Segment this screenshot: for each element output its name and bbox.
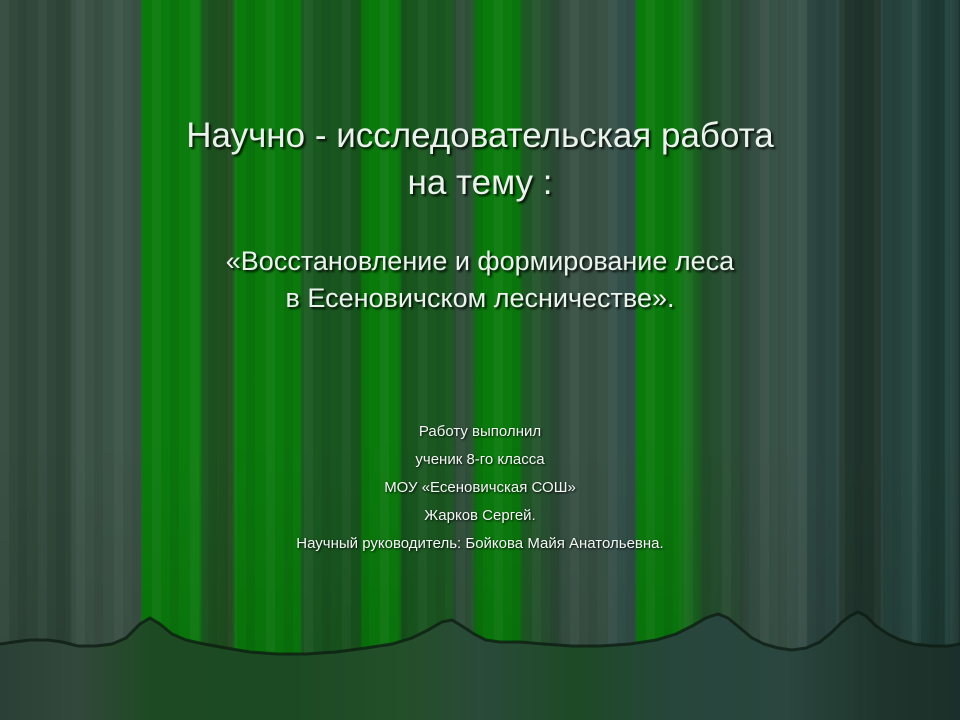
title-line-1: Научно - исследовательская работа xyxy=(0,112,960,159)
subtitle-line-1: «Восстановление и формирование леса xyxy=(0,243,960,280)
author-line-school: МОУ «Есеновичская СОШ» xyxy=(0,474,960,502)
author-line-role: Работу выполнил xyxy=(0,418,960,446)
author-block: Работу выполнил ученик 8-го класса МОУ «… xyxy=(0,418,960,558)
author-line-name: Жарков Сергей. xyxy=(0,502,960,530)
subtitle-line-2: в Есеновичском лесничестве». xyxy=(0,280,960,317)
author-line-supervisor: Научный руководитель: Бойкова Майя Анато… xyxy=(0,530,960,558)
author-line-class: ученик 8-го класса xyxy=(0,446,960,474)
slide-content: Научно - исследовательская работа на тем… xyxy=(0,0,960,720)
title-block: Научно - исследовательская работа на тем… xyxy=(0,112,960,206)
subtitle-block: «Восстановление и формирование леса в Ес… xyxy=(0,243,960,317)
title-slide: Научно - исследовательская работа на тем… xyxy=(0,0,960,720)
title-line-2: на тему : xyxy=(0,159,960,206)
